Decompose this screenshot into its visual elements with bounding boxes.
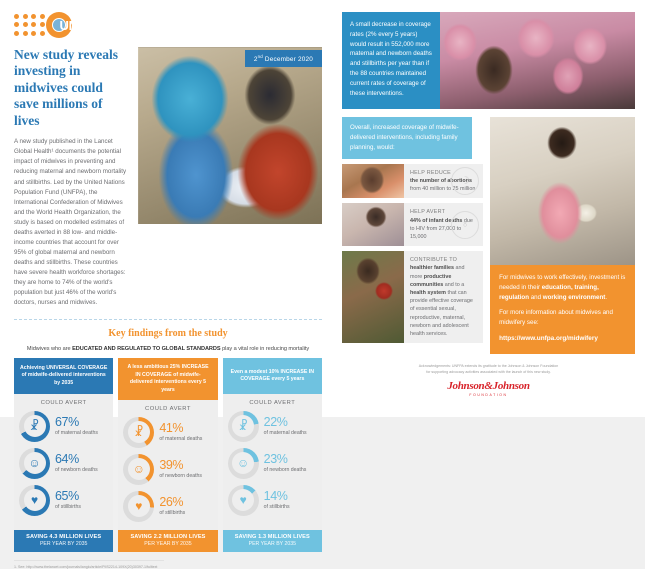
stat-value: 23%: [264, 453, 307, 466]
stat-label: of stillbirths: [159, 510, 185, 517]
benefit-item-abortions: HELP REDUCE the number of abortions from…: [342, 164, 483, 199]
stat-value: 41%: [159, 422, 202, 435]
benefit-mid-2: and to a: [443, 282, 464, 288]
column-footer: SAVING 1.3 MILLION LIVES PER YEAR BY 203…: [223, 530, 322, 552]
hero-row: New study reveals investing in midwives …: [14, 47, 322, 308]
could-avert-label: COULD AVERT: [19, 400, 108, 406]
stat-label: of newborn deaths: [264, 467, 307, 474]
benefit-item-infant-deaths-hiv: HELP AVERT 44% of infant deaths due to H…: [342, 203, 483, 246]
mother-carrying-child-photo: [342, 251, 404, 343]
donut-ring: ♥: [123, 491, 154, 522]
stat-label: of maternal deaths: [159, 436, 202, 443]
stat-value: 39%: [159, 459, 202, 472]
donut-ring: ☧: [123, 417, 154, 448]
column-header: A less ambitious 25% INCREASE IN COVERAG…: [118, 358, 217, 400]
stat-row: ♥ 14% of stillbirths: [228, 483, 317, 517]
stat-row: ☧ 67% of maternal deaths: [19, 409, 108, 443]
newborn-icon: ☺: [133, 463, 145, 475]
mother-and-newborn-photo: [342, 164, 404, 199]
coverage-decrease-callout: A small decrease in coverage rates (2% e…: [342, 12, 440, 109]
key-findings-subtitle: Midwives who are EDUCATED AND REGULATED …: [14, 346, 322, 352]
cta-investment-line: For midwives to work effectively, invest…: [499, 273, 626, 303]
stat-value: 65%: [55, 490, 81, 503]
stat-value: 22%: [264, 416, 307, 429]
jj-wordmark: Johnson&Johnson: [342, 380, 635, 392]
jj-foundation-label: FOUNDATION: [342, 393, 635, 397]
stat-value: 14%: [264, 490, 290, 503]
benefit-caption: CONTRIBUTE TO: [410, 256, 478, 264]
newborn-icon: ☺: [237, 457, 249, 469]
midwifery-url-link[interactable]: https://www.unfpa.org/midwifery: [499, 334, 626, 344]
acknowledgements-line-2: for supporting advocacy activities assoc…: [342, 369, 635, 375]
key-findings-title: Key findings from the study: [14, 328, 322, 339]
date-badge: 2nd December 2020: [245, 50, 322, 67]
lives-saved-period: PER YEAR BY 2035: [120, 541, 215, 547]
column-footer: SAVING 2.2 MILLION LIVES PER YEAR BY 203…: [118, 530, 217, 552]
donut-ring: ☺: [228, 448, 259, 479]
left-page: UNFPA New study reveals investing in mid…: [0, 0, 334, 417]
intro-text-column: New study reveals investing in midwives …: [14, 47, 128, 308]
lives-saved-period: PER YEAR BY 2035: [16, 541, 111, 547]
stat-row: ☧ 22% of maternal deaths: [228, 409, 317, 443]
acknowledgements: Acknowledgements: UNFPA extends its grat…: [342, 363, 635, 375]
stat-value: 64%: [55, 453, 98, 466]
logo-dots-icon: [14, 14, 46, 37]
donut-ring: ♥: [19, 485, 50, 516]
call-to-action-block: For midwives to work effectively, invest…: [490, 265, 635, 354]
stat-label: of maternal deaths: [55, 430, 98, 437]
intro-paragraph: A new study published in the Lancet Glob…: [14, 137, 128, 308]
finding-column-ambitious-25: A less ambitious 25% INCREASE IN COVERAG…: [118, 358, 217, 552]
johnson-and-johnson-logo: Johnson&Johnson FOUNDATION: [342, 380, 635, 397]
stat-row: ☺ 23% of newborn deaths: [228, 446, 317, 480]
heart-icon: ♥: [135, 500, 142, 512]
newborn-icon: ☺: [28, 457, 40, 469]
unfpa-logo: UNFPA: [14, 12, 322, 38]
stat-row: ☺ 64% of newborn deaths: [19, 446, 108, 480]
finding-column-universal: Achieving UNIVERSAL COVERAGE of midwife-…: [14, 358, 113, 552]
fetus-icon: ☽: [451, 167, 479, 195]
column-footer: SAVING 4.3 MILLION LIVES PER YEAR BY 203…: [14, 530, 113, 552]
stat-label: of newborn deaths: [55, 467, 98, 474]
donut-ring: ☺: [19, 448, 50, 479]
midwife-holding-baby-photo: [490, 117, 635, 265]
benefit-bold-1: healthier families: [410, 265, 454, 271]
pregnant-woman-icon: ☧: [134, 426, 143, 438]
stat-row: ☺ 39% of newborn deaths: [123, 452, 212, 486]
finding-column-modest-10: Even a modest 10% INCREASE IN COVERAGE e…: [223, 358, 322, 552]
donut-ring: ☧: [228, 411, 259, 442]
donut-ring: ☧: [19, 411, 50, 442]
donut-ring: ☺: [123, 454, 154, 485]
stat-label: of stillbirths: [55, 504, 81, 511]
column-header: Achieving UNIVERSAL COVERAGE of midwife-…: [14, 358, 113, 394]
lives-saved: SAVING 2.2 MILLION LIVES: [120, 534, 215, 540]
stat-value: 26%: [159, 496, 185, 509]
pregnant-woman-icon: ☧: [238, 420, 247, 432]
lives-saved: SAVING 4.3 MILLION LIVES: [16, 534, 111, 540]
cta-column: For midwives to work effectively, invest…: [490, 117, 635, 354]
benefits-column: Overall, increased coverage of midwife-d…: [342, 117, 483, 354]
midwifery-students-photo: [440, 12, 635, 109]
stat-value: 67%: [55, 416, 98, 429]
hero-photo: 2nd December 2020: [138, 47, 322, 224]
benefits-banner: Overall, increased coverage of midwife-d…: [342, 117, 472, 159]
lives-saved-period: PER YEAR BY 2035: [225, 541, 320, 547]
page-title: New study reveals investing in midwives …: [14, 47, 128, 129]
logo-wordmark: UNFPA: [60, 18, 102, 33]
benefits-row: Overall, increased coverage of midwife-d…: [342, 117, 635, 354]
lives-saved: SAVING 1.3 MILLION LIVES: [225, 534, 320, 540]
footnote: 1. See: http://www.thelancet.com/journal…: [14, 560, 164, 569]
cta-more-info-line: For more information about midwives and …: [499, 308, 626, 328]
stat-label: of newborn deaths: [159, 473, 202, 480]
findings-columns: Achieving UNIVERSAL COVERAGE of midwife-…: [14, 358, 322, 552]
could-avert-label: COULD AVERT: [228, 400, 317, 406]
stat-label: of stillbirths: [264, 504, 290, 511]
quote-photo-row: A small decrease in coverage rates (2% e…: [342, 12, 635, 109]
stat-row: ♥ 26% of stillbirths: [123, 489, 212, 523]
donut-ring: ♥: [228, 485, 259, 516]
infographic-spread: UNFPA New study reveals investing in mid…: [0, 0, 645, 417]
heart-icon: ♥: [31, 494, 38, 506]
heart-icon: ♥: [240, 494, 247, 506]
column-header: Even a modest 10% INCREASE IN COVERAGE e…: [223, 358, 322, 394]
stat-row: ♥ 65% of stillbirths: [19, 483, 108, 517]
could-avert-label: COULD AVERT: [123, 406, 212, 412]
stat-row: ☧ 41% of maternal deaths: [123, 415, 212, 449]
section-divider: [14, 319, 322, 320]
right-page: A small decrease in coverage rates (2% e…: [334, 0, 645, 417]
benefit-bold-3: health system: [410, 290, 446, 296]
mother-holding-baby-icon: ♁: [451, 211, 479, 239]
benefit-detail-text: that can provide effective coverage of e…: [410, 290, 473, 337]
benefit-item-healthier-families: CONTRIBUTE TO healthier families and mor…: [342, 251, 483, 343]
mother-resting-photo: [342, 203, 404, 246]
stat-label: of maternal deaths: [264, 430, 307, 437]
pregnant-woman-icon: ☧: [30, 420, 39, 432]
